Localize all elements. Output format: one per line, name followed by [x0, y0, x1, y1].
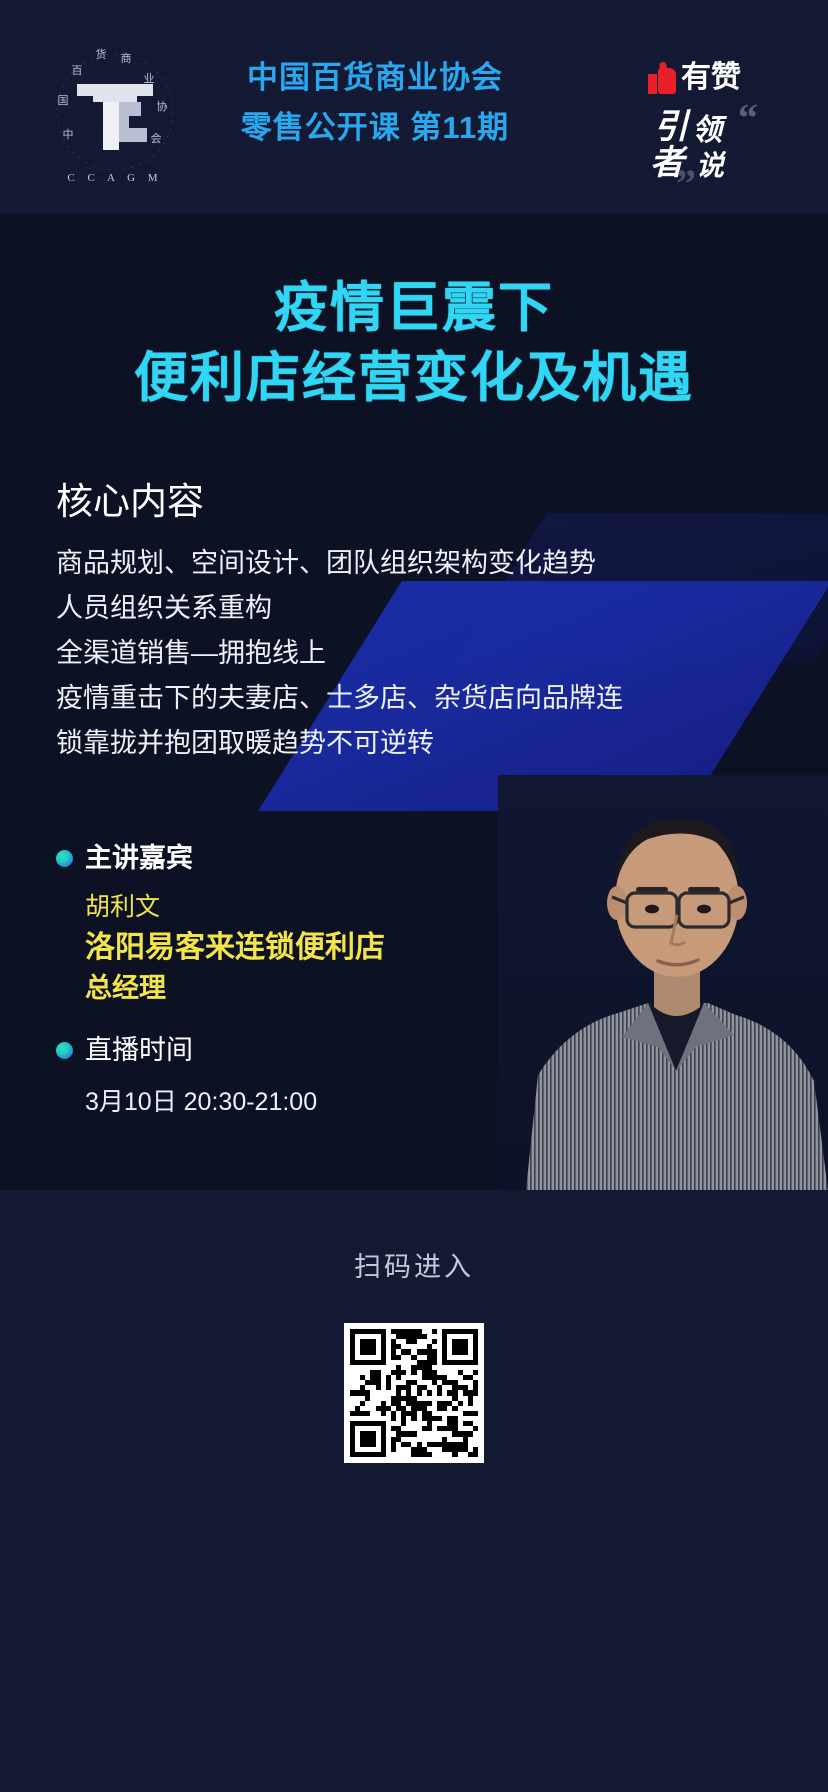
ccagm-emblem: 货 商 百 业 国 协 中 会 C C A G M — [45, 42, 185, 182]
speaker-portrait — [498, 775, 828, 1190]
live-time-value: 3月10日 20:30-21:00 — [85, 1085, 317, 1119]
bullet-dot-icon — [56, 850, 73, 867]
core-content-line: 人员组织关系重构 — [56, 586, 756, 631]
youzan-brand-lockup: 有赞 “ 引 领 者 说 ” — [648, 58, 778, 188]
emblem-caption: C C A G M — [45, 172, 185, 184]
thumbs-up-icon — [648, 62, 676, 94]
youzan-brand-name: 有赞 — [681, 62, 741, 94]
core-content-section: 核心内容 商品规划、空间设计、团队组织架构变化趋势 人员组织关系重构 全渠道销售… — [56, 477, 756, 766]
series-logo: “ 引 领 者 说 ” — [648, 102, 774, 188]
speaker-section: 主讲嘉宾 胡利文 洛阳易客来连锁便利店 总经理 — [56, 841, 385, 1007]
speaker-role: 总经理 — [85, 969, 385, 1007]
speaker-name: 胡利文 — [85, 889, 385, 925]
core-content-line: 锁靠拢并抱团取暖趋势不可逆转 — [56, 721, 756, 766]
scan-prompt: 扫码进入 — [0, 1245, 828, 1284]
emblem-ring-char: 货 — [94, 48, 108, 62]
core-content-line: 商品规划、空间设计、团队组织架构变化趋势 — [56, 541, 756, 586]
emblem-ring-char: 商 — [119, 52, 133, 66]
quote-close-icon: ” — [676, 164, 696, 204]
live-time-label: 直播时间 — [85, 1033, 193, 1067]
org-title-line2: 零售公开课 第11期 — [210, 106, 540, 150]
main-title-line1: 疫情巨震下 — [0, 275, 828, 341]
portrait-illustration — [498, 775, 828, 1190]
poster-body: 疫情巨震下 便利店经营变化及机遇 核心内容 商品规划、空间设计、团队组织架构变化… — [0, 213, 828, 1190]
series-char: 引 — [654, 110, 688, 144]
poster-header: 货 商 百 业 国 协 中 会 C C A G M 中国百货商业协会 零售公开课… — [0, 0, 828, 213]
qr-code[interactable] — [344, 1323, 484, 1463]
core-content-heading: 核心内容 — [56, 477, 756, 527]
live-time-section: 直播时间 3月10日 20:30-21:00 — [56, 1033, 317, 1119]
main-title: 疫情巨震下 便利店经营变化及机遇 — [0, 275, 828, 411]
bullet-dot-icon — [56, 1042, 73, 1059]
emblem-ring-char: 协 — [155, 100, 169, 114]
main-title-line2: 便利店经营变化及机遇 — [0, 345, 828, 411]
series-char: 领 — [692, 116, 722, 146]
emblem-monogram-icon — [73, 72, 157, 150]
org-title-line1: 中国百货商业协会 — [210, 56, 540, 100]
quote-open-icon: “ — [738, 98, 758, 138]
webinar-poster: 货 商 百 业 国 协 中 会 C C A G M 中国百货商业协会 零售公开课… — [0, 0, 828, 1792]
emblem-ring-char: 国 — [56, 94, 70, 108]
core-content-line: 全渠道销售—拥抱线上 — [56, 631, 756, 676]
speaker-organization: 洛阳易客来连锁便利店 — [85, 927, 385, 969]
speaker-section-label: 主讲嘉宾 — [85, 841, 193, 875]
core-content-line: 疫情重击下的夫妻店、士多店、杂货店向品牌连 — [56, 676, 756, 721]
poster-footer: 扫码进入 — [0, 1190, 828, 1792]
qr-code-matrix — [350, 1329, 478, 1457]
series-char: 说 — [696, 152, 724, 180]
org-title: 中国百货商业协会 零售公开课 第11期 — [210, 56, 540, 150]
